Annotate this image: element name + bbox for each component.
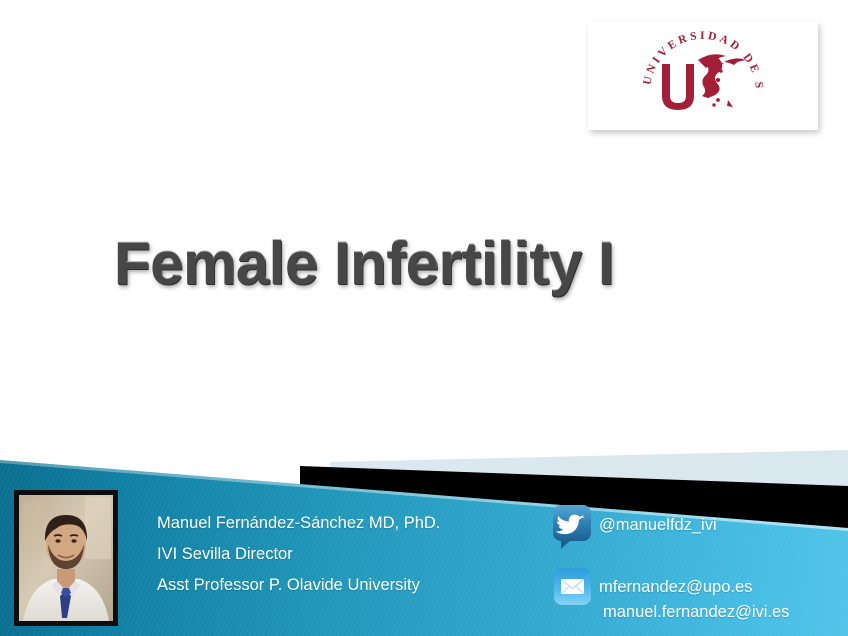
twitter-handle-group: @manuelfdz_ivi: [599, 504, 717, 538]
email-primary[interactable]: mfernandez@upo.es: [599, 575, 789, 600]
contact-row-email[interactable]: mfernandez@upo.es manuel.fernandez@ivi.e…: [551, 566, 848, 625]
speaker-info: Manuel Fernández-Sánchez MD, PhD. IVI Se…: [157, 508, 557, 601]
speaker-role: IVI Sevilla Director: [157, 539, 557, 570]
email-group: mfernandez@upo.es manuel.fernandez@ivi.e…: [599, 566, 789, 625]
speaker-affiliation: Asst Professor P. Olavide University: [157, 570, 557, 601]
contact-row-twitter[interactable]: @manuelfdz_ivi: [551, 504, 848, 557]
contact-list: @manuelfdz_ivi: [551, 504, 848, 625]
speaker-photo: [14, 490, 118, 626]
email-icon[interactable]: [551, 566, 599, 615]
university-logo-box: UNIVERSIDAD DE SEVILLA: [588, 22, 818, 130]
title-block: Female Infertility I: [0, 228, 848, 300]
svg-text:UNIVERSIDAD DE SEVILLA: UNIVERSIDAD DE SEVILLA: [628, 26, 765, 92]
email-secondary[interactable]: manuel.fernandez@ivi.es: [599, 600, 789, 625]
presentation-slide: UNIVERSIDAD DE SEVILLA Female Infertilit…: [0, 0, 848, 636]
twitter-handle[interactable]: @manuelfdz_ivi: [599, 513, 717, 538]
speaker-portrait-image: [19, 495, 113, 621]
speaker-name: Manuel Fernández-Sánchez MD, PhD.: [157, 508, 557, 539]
page-title: Female Infertility I: [114, 228, 614, 300]
twitter-icon[interactable]: [551, 504, 599, 557]
universidad-de-sevilla-logo: UNIVERSIDAD DE SEVILLA: [628, 26, 778, 126]
